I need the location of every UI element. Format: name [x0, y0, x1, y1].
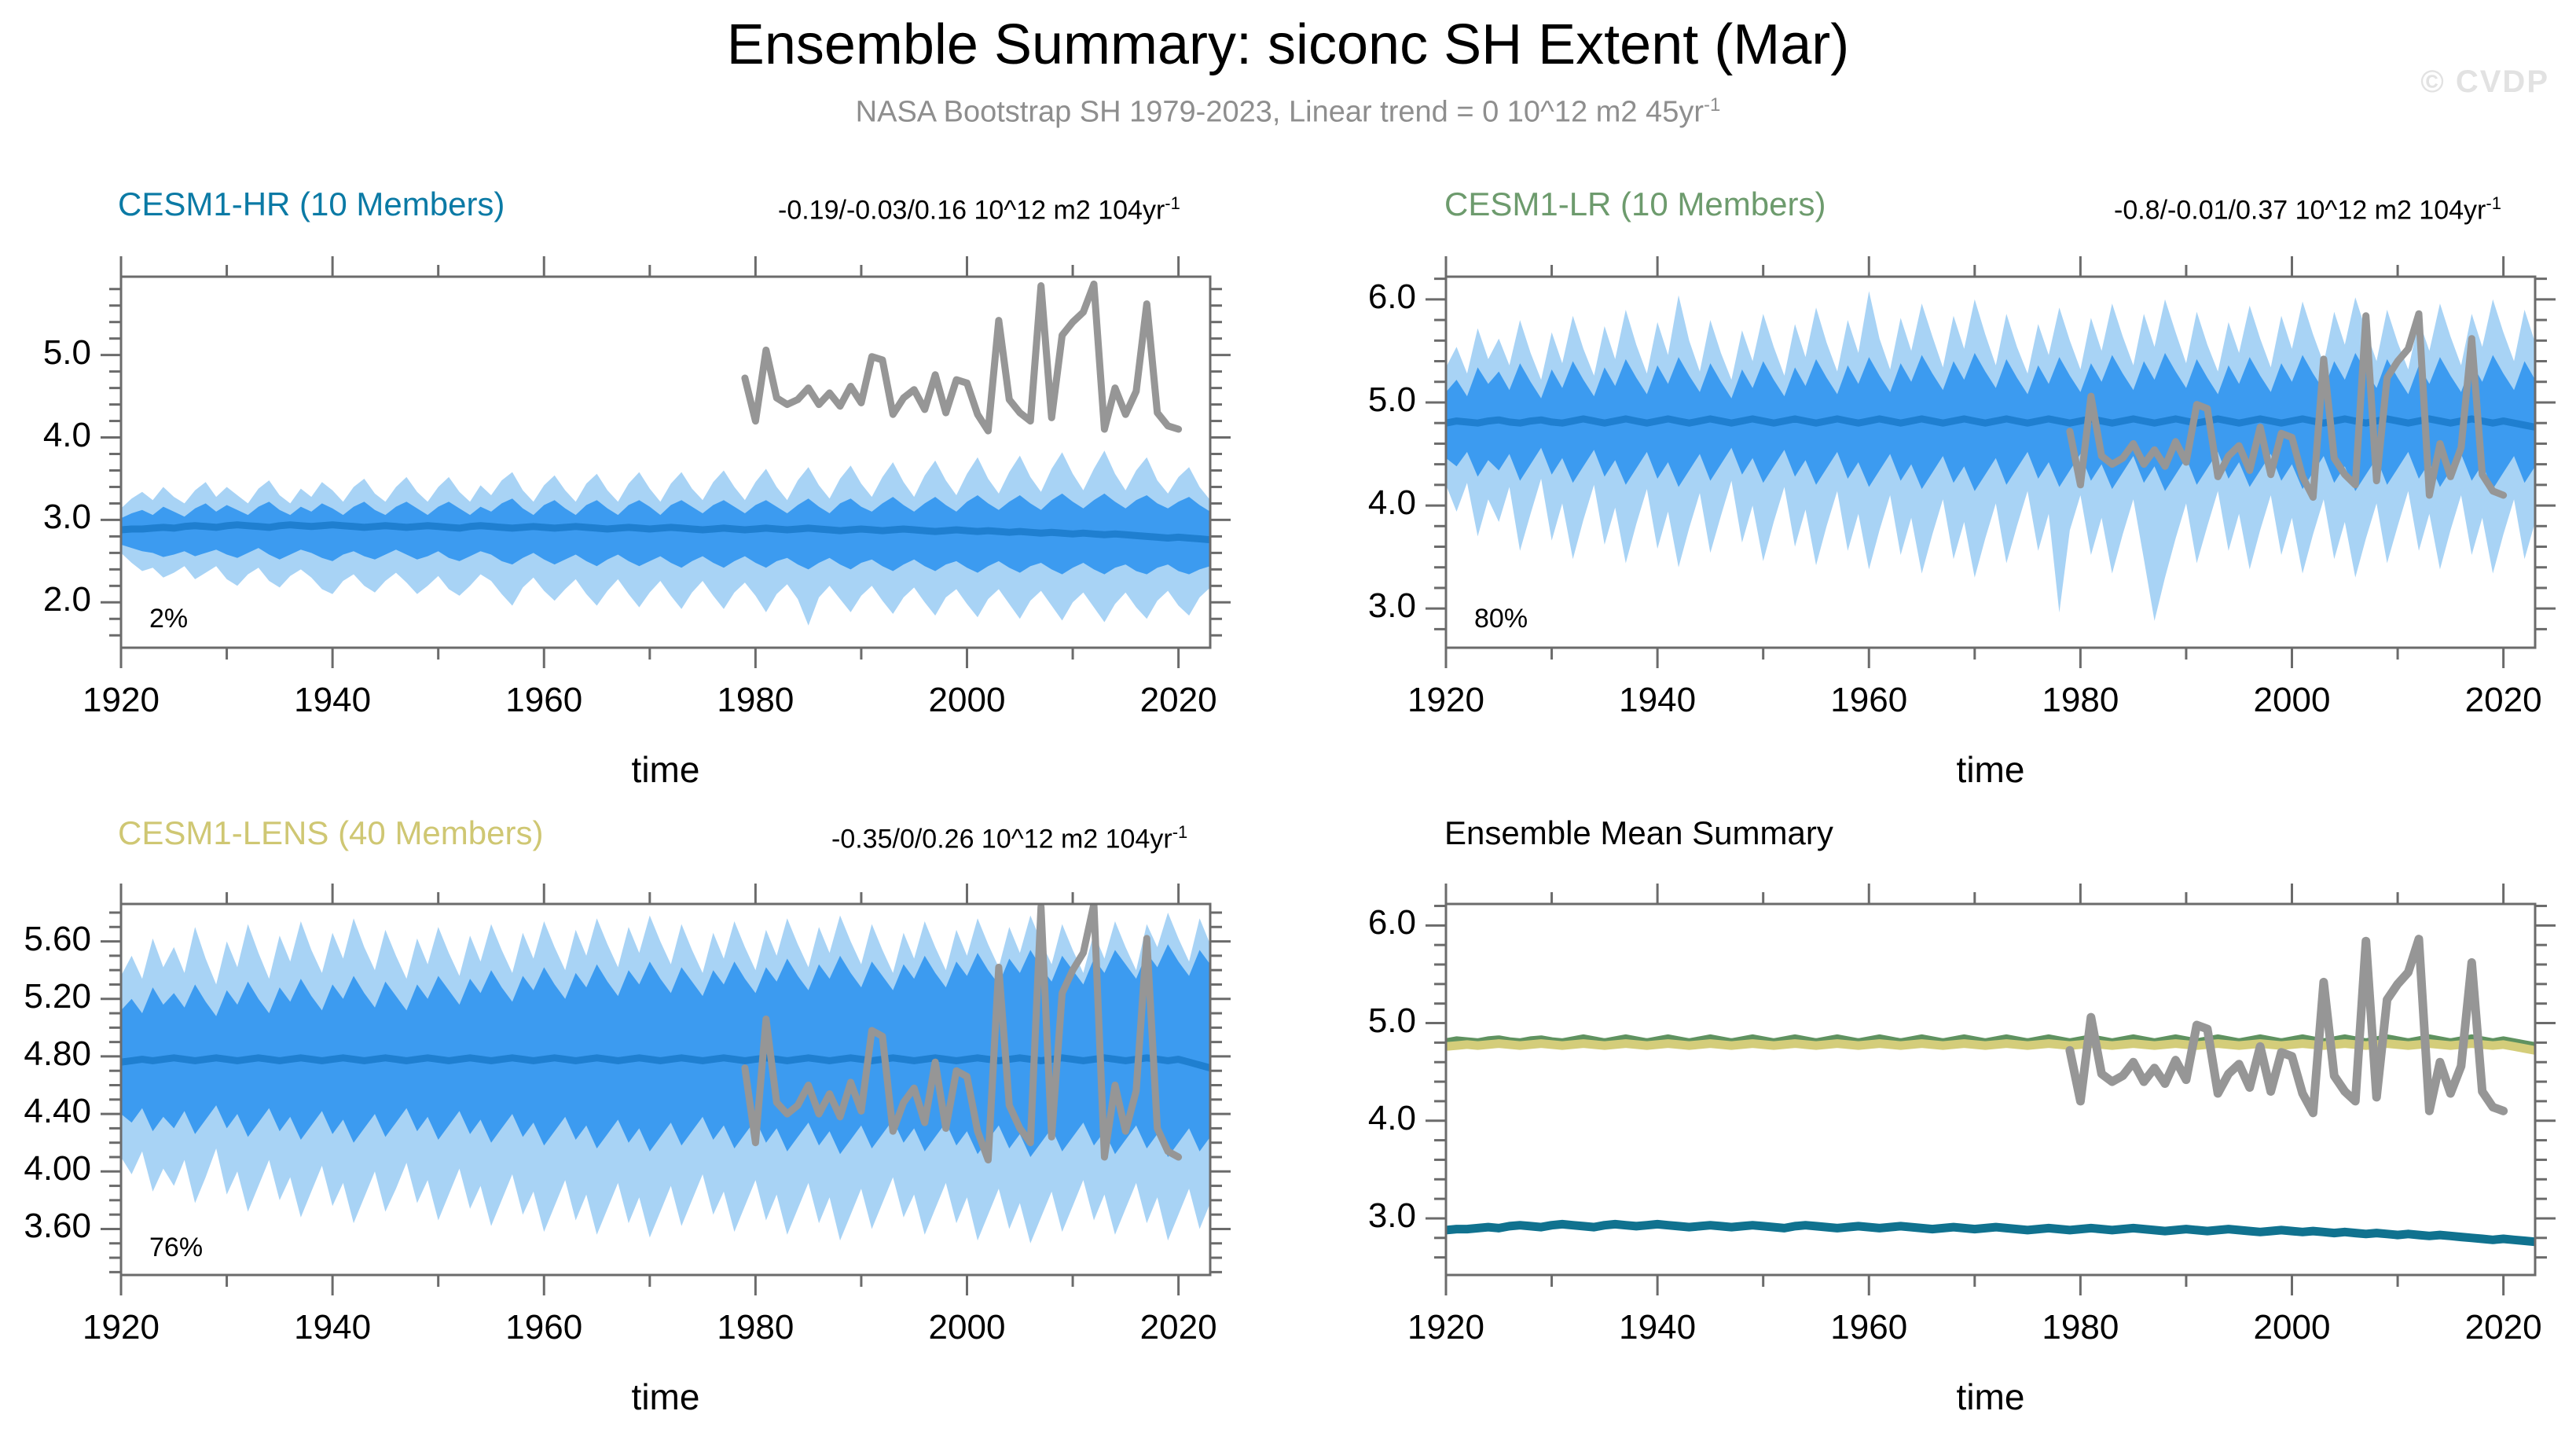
xtick-label: 2020 — [2417, 1308, 2576, 1347]
axis-ticks — [1426, 884, 2556, 1295]
mean-line-cesm1-lens — [1446, 1044, 2535, 1051]
panel-title-ensemble-mean-summary: Ensemble Mean Summary — [1444, 814, 1833, 852]
panel-ensemble-mean-summary: Ensemble Mean Summary3.04.05.06.01920194… — [0, 0, 2576, 1455]
xaxis-label-ensemble-mean-summary: time — [1446, 1376, 2535, 1418]
xtick-label: 1980 — [1994, 1308, 2167, 1347]
figure-root: Ensemble Summary: siconc SH Extent (Mar)… — [0, 0, 2576, 1455]
ytick-label: 5.0 — [1212, 1001, 1416, 1041]
ytick-label: 4.0 — [1212, 1099, 1416, 1138]
plot-area-ensemble-mean-summary — [0, 0, 2576, 1455]
mean-line-nasa-bootstrap-observations — [2070, 939, 2504, 1113]
xtick-label: 1960 — [1782, 1308, 1955, 1347]
mean-line-cesm1-hr — [1446, 1224, 2535, 1241]
mean-line-cesm1-lr — [1446, 1038, 2535, 1046]
ytick-label: 3.0 — [1212, 1196, 1416, 1236]
ytick-label: 6.0 — [1212, 903, 1416, 942]
xtick-label: 1920 — [1360, 1308, 1532, 1347]
xtick-label: 1940 — [1571, 1308, 1744, 1347]
plot-frame — [1446, 904, 2535, 1275]
xtick-label: 2000 — [2206, 1308, 2379, 1347]
